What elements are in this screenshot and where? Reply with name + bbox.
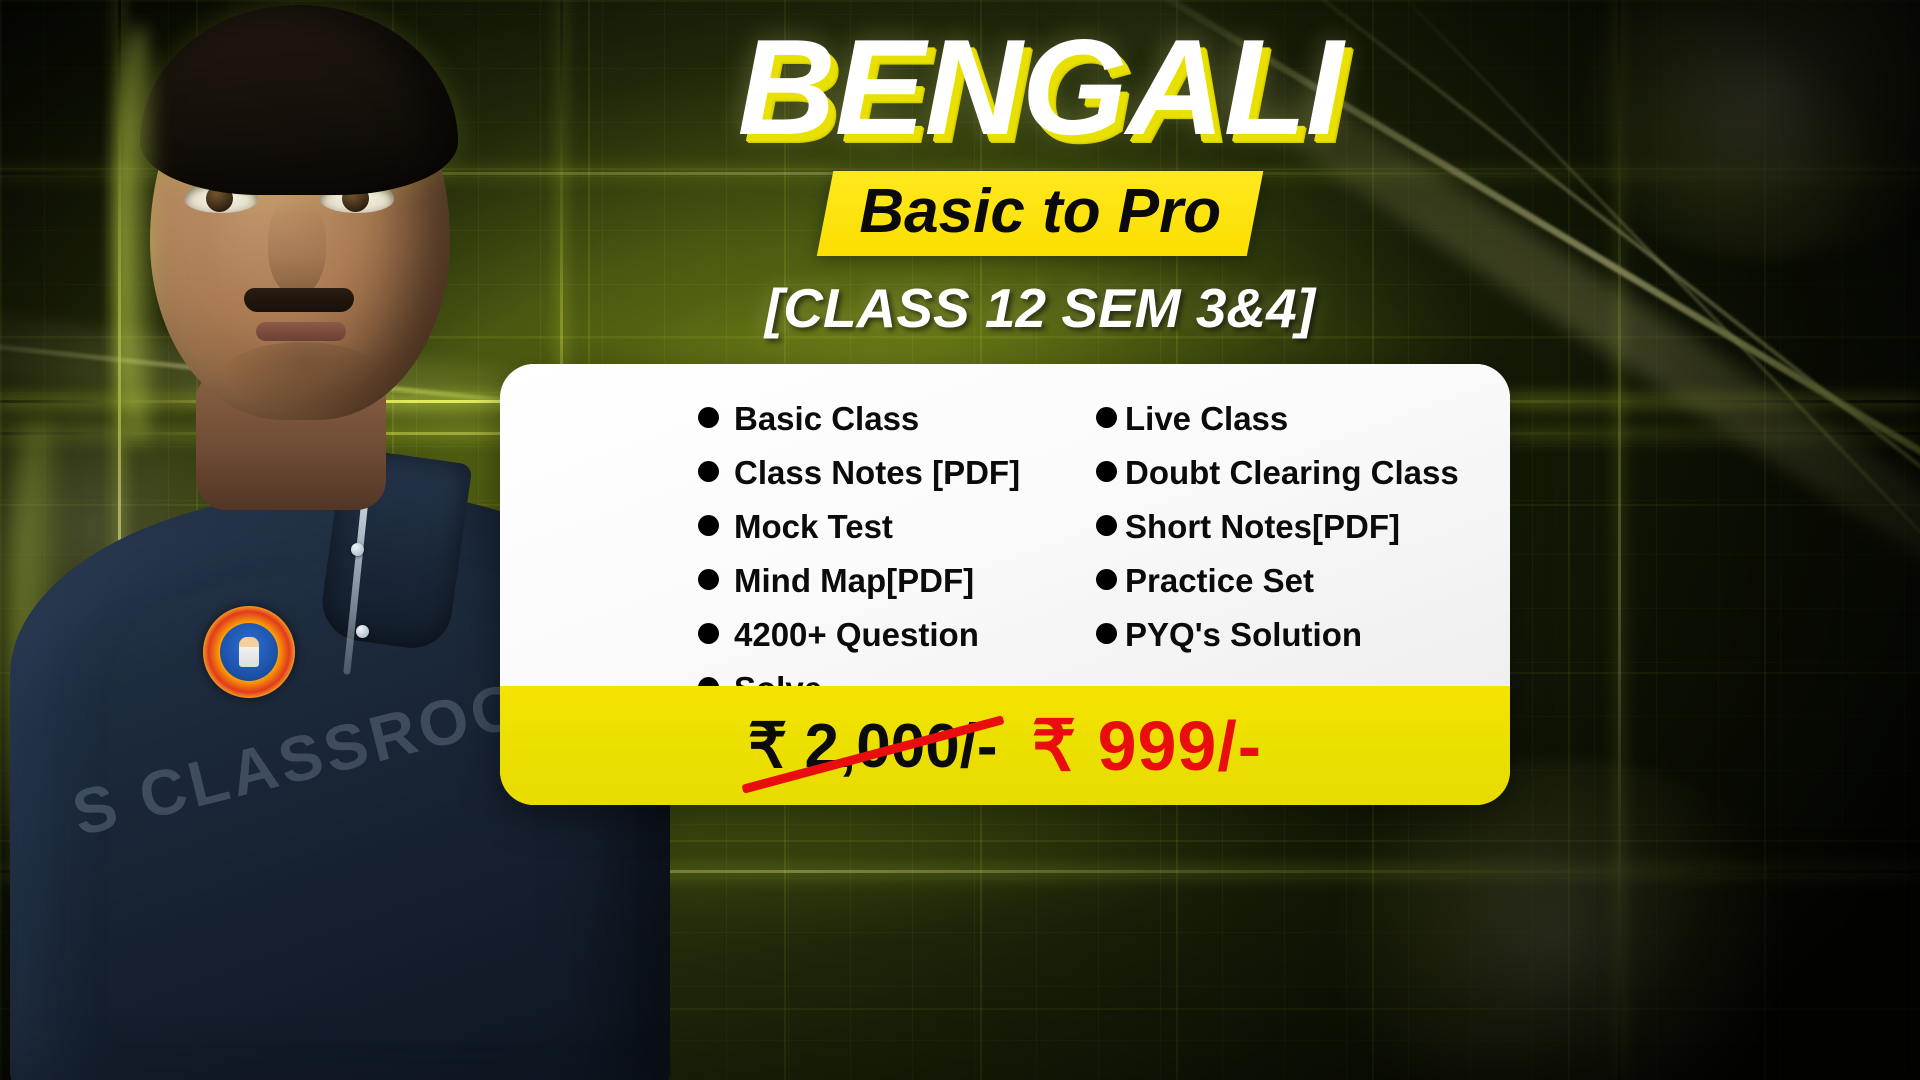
subtitle-banner: Basic to Pro bbox=[817, 171, 1263, 256]
features-column-right: Live Class Doubt Clearing Class Short No… bbox=[1096, 402, 1496, 726]
features-column-left: Basic Class Class Notes [PDF] Mock Test … bbox=[698, 402, 1096, 726]
bullet-icon bbox=[1096, 461, 1117, 482]
feature-label: Doubt Clearing Class bbox=[1125, 456, 1459, 489]
old-price: ₹ 2,000/- bbox=[748, 712, 998, 781]
chin-shadow bbox=[220, 342, 385, 414]
feature-item: Doubt Clearing Class bbox=[1096, 456, 1496, 489]
headline-block: BENGALI Basic to Pro [CLASS 12 SEM 3&4] bbox=[690, 18, 1390, 340]
bullet-icon bbox=[698, 569, 719, 590]
feature-item: PYQ's Solution bbox=[1096, 618, 1496, 651]
feature-item: 4200+ Question bbox=[698, 618, 1096, 651]
feature-item: Mock Test bbox=[698, 510, 1096, 543]
bullet-icon bbox=[1096, 623, 1117, 644]
shirt-button bbox=[356, 625, 369, 638]
subtitle-text: Basic to Pro bbox=[859, 177, 1221, 246]
lips bbox=[256, 322, 346, 341]
page-title: BENGALI bbox=[690, 18, 1390, 157]
feature-label: Mock Test bbox=[734, 510, 893, 543]
feature-label: Practice Set bbox=[1125, 564, 1314, 597]
logo-badge-figure bbox=[239, 637, 259, 667]
feature-label: Mind Map[PDF] bbox=[734, 564, 974, 597]
shirt-button bbox=[351, 543, 364, 556]
hair bbox=[140, 5, 458, 195]
bullet-icon bbox=[698, 515, 719, 536]
feature-label: Basic Class bbox=[734, 402, 919, 435]
logo-badge-inner bbox=[220, 623, 278, 681]
moustache bbox=[244, 288, 354, 312]
bullet-icon bbox=[698, 461, 719, 482]
feature-item: Live Class bbox=[1096, 402, 1496, 435]
old-price-wrap: ₹ 2,000/- bbox=[748, 709, 998, 782]
bullet-icon bbox=[698, 623, 719, 644]
bullet-icon bbox=[698, 407, 719, 428]
rim-light bbox=[116, 25, 162, 445]
feature-item: Short Notes[PDF] bbox=[1096, 510, 1496, 543]
feature-label: 4200+ Question bbox=[734, 618, 979, 651]
nose bbox=[268, 200, 326, 296]
promo-banner: S CLASSROO BENGALI Basic to Pro [CLASS 1… bbox=[0, 0, 1920, 1080]
feature-label: Live Class bbox=[1125, 402, 1288, 435]
pricing-bar: ₹ 2,000/- ₹ 999/- bbox=[500, 686, 1510, 805]
feature-label: PYQ's Solution bbox=[1125, 618, 1362, 651]
features-list-area: Basic Class Class Notes [PDF] Mock Test … bbox=[500, 364, 1510, 686]
bullet-icon bbox=[1096, 407, 1117, 428]
feature-item: Basic Class bbox=[698, 402, 1096, 435]
new-price: ₹ 999/- bbox=[1032, 705, 1263, 787]
bullet-icon bbox=[1096, 569, 1117, 590]
class-label: [CLASS 12 SEM 3&4] bbox=[690, 276, 1390, 340]
features-card: Basic Class Class Notes [PDF] Mock Test … bbox=[500, 364, 1510, 805]
feature-label: Class Notes [PDF] bbox=[734, 456, 1020, 489]
bullet-icon bbox=[1096, 515, 1117, 536]
feature-item: Mind Map[PDF] bbox=[698, 564, 1096, 597]
feature-item: Practice Set bbox=[1096, 564, 1496, 597]
logo-badge-icon bbox=[203, 606, 295, 698]
feature-item: Class Notes [PDF] bbox=[698, 456, 1096, 489]
feature-label: Short Notes[PDF] bbox=[1125, 510, 1400, 543]
